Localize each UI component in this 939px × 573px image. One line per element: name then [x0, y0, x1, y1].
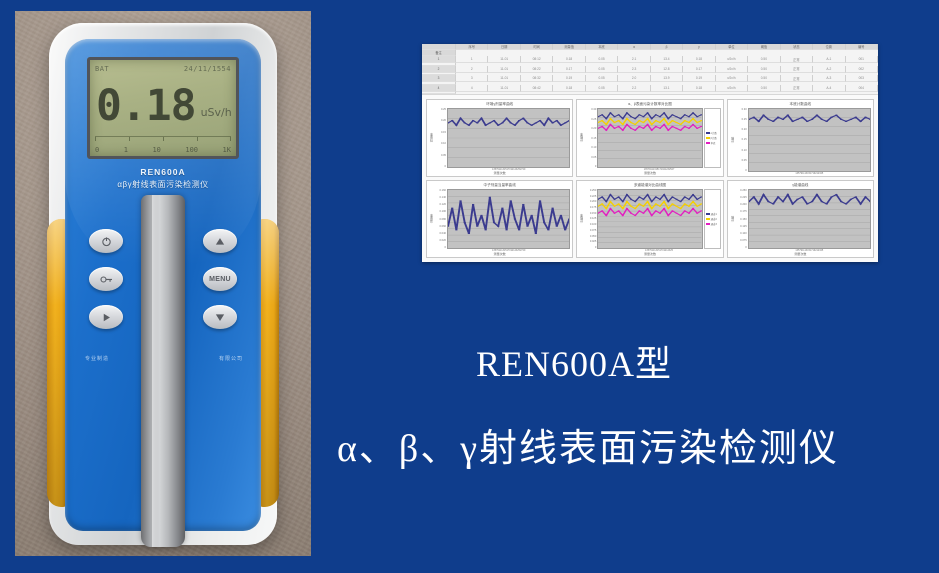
chart-y-tick: 0.120 [434, 203, 446, 206]
chart-y-tick: 0.225 [735, 196, 747, 199]
triangle-down-icon [214, 312, 226, 323]
table-header-cell: 1 [422, 56, 456, 63]
table-cell: 0.05 [586, 56, 618, 63]
chart-plot-area [597, 108, 702, 168]
table-cell: 11-01 [488, 66, 520, 73]
table-cell: 11-01 [488, 56, 520, 63]
table-cell: 13.9 [651, 75, 683, 82]
table-header-cell: 3 [422, 75, 456, 82]
menu-text-icon: MENU [209, 276, 231, 283]
table-cell: A-3 [813, 75, 845, 82]
table-cell: 0.18 [553, 56, 585, 63]
table-cell: uSv/h [716, 66, 748, 73]
legend-swatch [706, 137, 710, 139]
handle-highlight [152, 195, 159, 547]
chart-y-tick: 0.040 [434, 232, 446, 235]
legend-label: β计数 [711, 136, 717, 140]
chart-y-tick: 0.100 [434, 210, 446, 213]
chart-y-tick: 0.20 [584, 127, 596, 130]
chart-title: 中子剂量当量率曲线 [483, 183, 515, 188]
table-cell: 0.18 [683, 56, 715, 63]
chart-y-axis-label: 当量率 [429, 189, 434, 249]
table-cell: 2.1 [618, 56, 650, 63]
table-cell: uSv/h [716, 56, 748, 63]
table-cell: 13.4 [651, 56, 683, 63]
table-row: 3311-0108:320.190.052.013.90.19uSv/h0.50… [422, 75, 878, 85]
chart-y-tick: 0.020 [434, 239, 446, 242]
legend-swatch [706, 218, 710, 220]
table-header-cell: 阈值 [748, 44, 780, 50]
chart-x-axis-label: 测量次数 [730, 252, 871, 256]
chart-y-ticks: 0.300.250.200.150.100.050 [584, 108, 597, 168]
table-cell: 0.18 [683, 85, 715, 92]
legend-swatch [706, 223, 710, 225]
chart-y-tick: 0.05 [584, 156, 596, 159]
table-cell: 0.17 [553, 66, 585, 73]
lcd-unit: uSv/h [201, 106, 232, 119]
chart-y-tick: 0.175 [735, 210, 747, 213]
table-cell: uSv/h [716, 85, 748, 92]
chart-legend: α计数β计数本底 [704, 108, 721, 168]
chart-panel: α、β表面污染计数率对比图计数率0.300.250.200.150.100.05… [576, 99, 723, 177]
table-header-cell: 编号 [846, 44, 878, 50]
chart-y-tick: 0.150 [735, 218, 747, 221]
legend-item: α计数 [706, 131, 719, 135]
chart-body: 计数率0.2500.2250.2000.1750.1500.1250.1000.… [579, 189, 720, 249]
device-model-description: αβγ射线表面污染检测仪 [79, 179, 247, 190]
table-cell: 08:32 [521, 75, 553, 82]
chart-y-ticks: 0.2500.2250.2000.1750.1500.1250.1000.075… [584, 189, 597, 249]
lcd-reading: 0.18 uSv/h [96, 78, 230, 134]
chart-panel: 中子剂量当量率曲线当量率0.1600.1400.1200.1000.0800.0… [426, 180, 573, 258]
table-header-cell: 日期 [488, 44, 520, 50]
table-cell: A-1 [813, 56, 845, 63]
chart-y-tick: 0 [735, 169, 747, 172]
chart-x-axis-label: 测量次数 [579, 252, 720, 256]
lcd-status-bar: BAT 24/11/1554 [95, 63, 231, 74]
chart-y-tick: 0.20 [434, 119, 446, 122]
table-cell: A-2 [813, 66, 845, 73]
chart-plot-area [748, 108, 871, 172]
table-cell: 13.1 [651, 85, 683, 92]
chart-y-ticks: 0.300.250.200.150.100.050 [735, 108, 748, 172]
table-cell: 0.50 [748, 85, 780, 92]
table-header-cell: 2 [422, 66, 456, 73]
up-button[interactable] [203, 229, 237, 253]
detector-device: BAT 24/11/1554 0.18 uSv/h 0 1 [49, 23, 277, 545]
legend-item: 通道1 [706, 212, 719, 216]
chart-y-tick: 0 [584, 165, 596, 168]
chart-plot-area [748, 189, 871, 249]
chart-plot-area [447, 108, 570, 168]
device-imprint-right: 有限公司 [219, 355, 243, 362]
key-button[interactable] [89, 267, 123, 291]
lcd-scale-1: 1 [124, 146, 128, 154]
lcd-scale-2: 10 [152, 146, 160, 154]
table-cell: 001 [846, 56, 878, 63]
table-header-cell: 时间 [521, 44, 553, 50]
lcd-scale-3: 100 [185, 146, 198, 154]
lcd-battery-indicator: BAT [95, 65, 109, 73]
chart-x-tick: 25 [821, 172, 824, 175]
chart-y-ticks: 0.2500.2250.2000.1750.1500.1250.1000.075… [735, 189, 748, 249]
chart-panel: 环境γ剂量率曲线剂量率0.250.200.150.100.05013579111… [426, 99, 573, 177]
table-header-cell: γ [683, 44, 715, 50]
table-cell: 0.05 [586, 66, 618, 73]
lcd-timestamp: 24/11/1554 [184, 65, 231, 73]
menu-button[interactable]: MENU [203, 267, 237, 291]
triangle-up-icon [214, 236, 226, 247]
chart-y-tick: 0.05 [434, 154, 446, 157]
legend-label: 本底 [711, 141, 716, 145]
legend-swatch [706, 132, 710, 134]
table-cell [422, 92, 456, 94]
table-header-cell: 4 [422, 85, 456, 92]
table-header-cell: 状态 [781, 44, 813, 50]
chart-y-tick: 0.10 [434, 142, 446, 145]
grip-right [259, 219, 279, 507]
chart-y-tick: 0.200 [584, 200, 596, 203]
table-header-cell: β [651, 44, 683, 50]
chart-y-tick: 0.250 [735, 189, 747, 192]
chart-y-tick: 0.15 [735, 138, 747, 141]
device-imprint-left: 专业制造 [85, 355, 109, 362]
table-row: 4411-0108:420.180.052.213.10.18uSv/h0.50… [422, 85, 878, 95]
grip-left [47, 219, 67, 507]
chart-title: 环境γ剂量率曲线 [486, 102, 513, 107]
chart-y-tick: 0 [434, 246, 446, 249]
chart-y-axis-label: 计数 [730, 189, 735, 249]
chart-y-tick: 0.25 [735, 118, 747, 121]
chart-y-tick: 0.075 [735, 239, 747, 242]
table-header-cell: 单位 [716, 44, 748, 50]
chart-y-tick: 0.080 [434, 218, 446, 221]
table-cell: 003 [846, 75, 878, 82]
table-cell: 08:42 [521, 85, 553, 92]
legend-label: α计数 [711, 131, 717, 135]
device-model-number: REN600A [79, 167, 247, 177]
table-cell: 2.0 [618, 75, 650, 82]
chart-panel: 本底计数曲线计数0.300.250.200.150.100.0501357911… [727, 99, 874, 177]
chart-y-tick: 0.25 [434, 108, 446, 111]
chart-x-axis-label: 测量次数 [429, 171, 570, 175]
table-cell: 2.3 [618, 66, 650, 73]
product-photo: BAT 24/11/1554 0.18 uSv/h 0 1 [15, 11, 311, 556]
chart-y-tick: 0.20 [735, 128, 747, 131]
spreadsheet-table: 序号日期时间测量值本底αβγ单位阈值状态位置编号备注1111-0108:120.… [422, 44, 878, 95]
chart-y-tick: 0.125 [584, 217, 596, 220]
chart-y-tick: 0 [584, 246, 596, 249]
chart-x-axis-label: 测量次数 [429, 252, 570, 256]
chart-y-tick: 0.025 [584, 240, 596, 243]
play-button[interactable] [89, 305, 123, 329]
chart-y-tick: 0 [434, 165, 446, 168]
chart-title: 本底计数曲线 [790, 102, 812, 107]
power-icon [101, 236, 112, 247]
table-row: 1111-0108:120.180.052.113.40.18uSv/h0.50… [422, 56, 878, 66]
chart-y-tick: 0.25 [584, 118, 596, 121]
table-row: 2211-0108:220.170.052.312.80.17uSv/h0.50… [422, 66, 878, 76]
chart-y-tick: 0.150 [584, 212, 596, 215]
table-cell: 08:12 [521, 56, 553, 63]
lcd-value: 0.18 [96, 85, 196, 128]
legend-item: 通道3 [706, 222, 719, 226]
legend-item: β计数 [706, 136, 719, 140]
table-cell: 11-01 [488, 85, 520, 92]
table-cell: 0.50 [748, 56, 780, 63]
chart-body: 当量率0.1600.1400.1200.1000.0800.0600.0400.… [429, 189, 570, 249]
chart-x-ticks: 135791113151719212325 [794, 172, 824, 175]
lcd-bargraph [95, 136, 231, 142]
chart-y-axis-label: 计数率 [579, 108, 584, 168]
table-cell: 0.05 [586, 75, 618, 82]
software-report-image: 序号日期时间测量值本底αβγ单位阈值状态位置编号备注1111-0108:120.… [422, 44, 878, 262]
play-icon [101, 312, 112, 323]
chart-y-tick: 0.160 [434, 189, 446, 192]
chart-y-tick: 0.05 [735, 159, 747, 162]
table-cell: 1 [456, 56, 488, 63]
table-cell: 4 [456, 85, 488, 92]
chart-x-axis-label: 测量次数 [579, 171, 720, 175]
chart-title: 多道能谱对比曲线图 [634, 183, 666, 188]
chart-y-ticks: 0.250.200.150.100.050 [434, 108, 447, 168]
chart-y-axis-label: 剂量率 [429, 108, 434, 168]
chart-y-tick: 0.30 [584, 108, 596, 111]
chart-y-tick: 0.30 [735, 108, 747, 111]
table-header-cell: 本底 [586, 44, 618, 50]
table-cell: 正常 [781, 66, 813, 73]
legend-label: 通道3 [711, 222, 717, 226]
table-header-row: 序号日期时间测量值本底αβγ单位阈值状态位置编号备注 [422, 44, 878, 56]
table-cell: 12.8 [651, 66, 683, 73]
chart-y-tick: 0.200 [735, 203, 747, 206]
chart-y-tick: 0.125 [735, 225, 747, 228]
chart-body: 计数0.300.250.200.150.100.050 [730, 108, 871, 172]
chart-plot-area [447, 189, 570, 249]
table-cell: 0.50 [748, 75, 780, 82]
legend-item: 通道2 [706, 217, 719, 221]
chart-plot-area [597, 189, 702, 249]
chart-panel: γ能谱曲线计数0.2500.2250.2000.1750.1500.1250.1… [727, 180, 874, 258]
table-header-cell: α [618, 44, 650, 50]
chart-y-tick: 0.060 [434, 225, 446, 228]
chart-y-tick: 0.075 [584, 229, 596, 232]
table-cell: 正常 [781, 75, 813, 82]
legend-swatch [706, 213, 710, 215]
table-cell: 002 [846, 66, 878, 73]
product-title-line2: α、β、γ射线表面污染检测仪 [337, 417, 839, 472]
chart-y-axis-label: 计数 [730, 108, 735, 172]
lcd-scale-4: 1K [223, 146, 231, 154]
chart-y-tick: 0.15 [584, 137, 596, 140]
table-cell: 0.19 [553, 75, 585, 82]
chart-body: 计数率0.300.250.200.150.100.050α计数β计数本底 [579, 108, 720, 168]
legend-label: 通道1 [711, 212, 717, 216]
chart-y-tick: 0.250 [584, 189, 596, 192]
product-title-line1: REN600A型 [476, 335, 672, 387]
table-cell: A-4 [813, 85, 845, 92]
legend-label: 通道2 [711, 217, 717, 221]
table-header-cell: 序号 [456, 44, 488, 50]
chart-y-tick: 0.050 [584, 235, 596, 238]
chart-y-tick: 0.100 [584, 223, 596, 226]
table-cell: 2 [456, 66, 488, 73]
legend-swatch [706, 142, 710, 144]
charts-grid: 环境γ剂量率曲线剂量率0.250.200.150.100.05013579111… [422, 95, 878, 262]
chart-y-tick: 0.175 [584, 206, 596, 209]
table-cell: uSv/h [716, 75, 748, 82]
chart-y-tick: 0.15 [434, 131, 446, 134]
chart-y-tick: 0 [735, 246, 747, 249]
chart-panel: 多道能谱对比曲线图计数率0.2500.2250.2000.1750.1500.1… [576, 180, 723, 258]
table-cell: 11-01 [488, 75, 520, 82]
chart-y-tick: 0.140 [434, 196, 446, 199]
lcd-scale-labels: 0 1 10 100 1K [95, 145, 231, 155]
chart-title: γ能谱曲线 [792, 183, 808, 188]
table-cell: 0.05 [586, 85, 618, 92]
table-cell: 004 [846, 85, 878, 92]
chart-body: 剂量率0.250.200.150.100.050 [429, 108, 570, 168]
chart-title: α、β表面污染计数率对比图 [628, 102, 672, 107]
table-header-cell: 测量值 [553, 44, 585, 50]
lcd-scale-0: 0 [95, 146, 99, 154]
table-cell: 0.17 [683, 66, 715, 73]
chart-body: 计数0.2500.2250.2000.1750.1500.1250.1000.0… [730, 189, 871, 249]
chart-y-tick: 0.100 [735, 232, 747, 235]
table-cell: 2.2 [618, 85, 650, 92]
device-handle [141, 195, 185, 547]
slide-background: BAT 24/11/1554 0.18 uSv/h 0 1 [0, 0, 939, 573]
chart-y-tick: 0.10 [735, 149, 747, 152]
table-cell: 0.50 [748, 66, 780, 73]
table-cell: 0.19 [683, 75, 715, 82]
legend-item: 本底 [706, 141, 719, 145]
table-header-cell: 位置 [813, 44, 845, 50]
table-cell: 3 [456, 75, 488, 82]
chart-y-tick: 0.225 [584, 195, 596, 198]
table-cell: 08:22 [521, 66, 553, 73]
table-cell: 正常 [781, 85, 813, 92]
lcd-screen: BAT 24/11/1554 0.18 uSv/h 0 1 [87, 57, 239, 159]
key-icon [100, 274, 113, 285]
down-button[interactable] [203, 305, 237, 329]
chart-y-ticks: 0.1600.1400.1200.1000.0800.0600.0400.020… [434, 189, 447, 249]
table-cell: 正常 [781, 56, 813, 63]
table-cell: 0.18 [553, 85, 585, 92]
power-button[interactable] [89, 229, 123, 253]
chart-legend: 通道1通道2通道3 [704, 189, 721, 249]
chart-y-axis-label: 计数率 [579, 189, 584, 249]
chart-y-tick: 0.10 [584, 146, 596, 149]
